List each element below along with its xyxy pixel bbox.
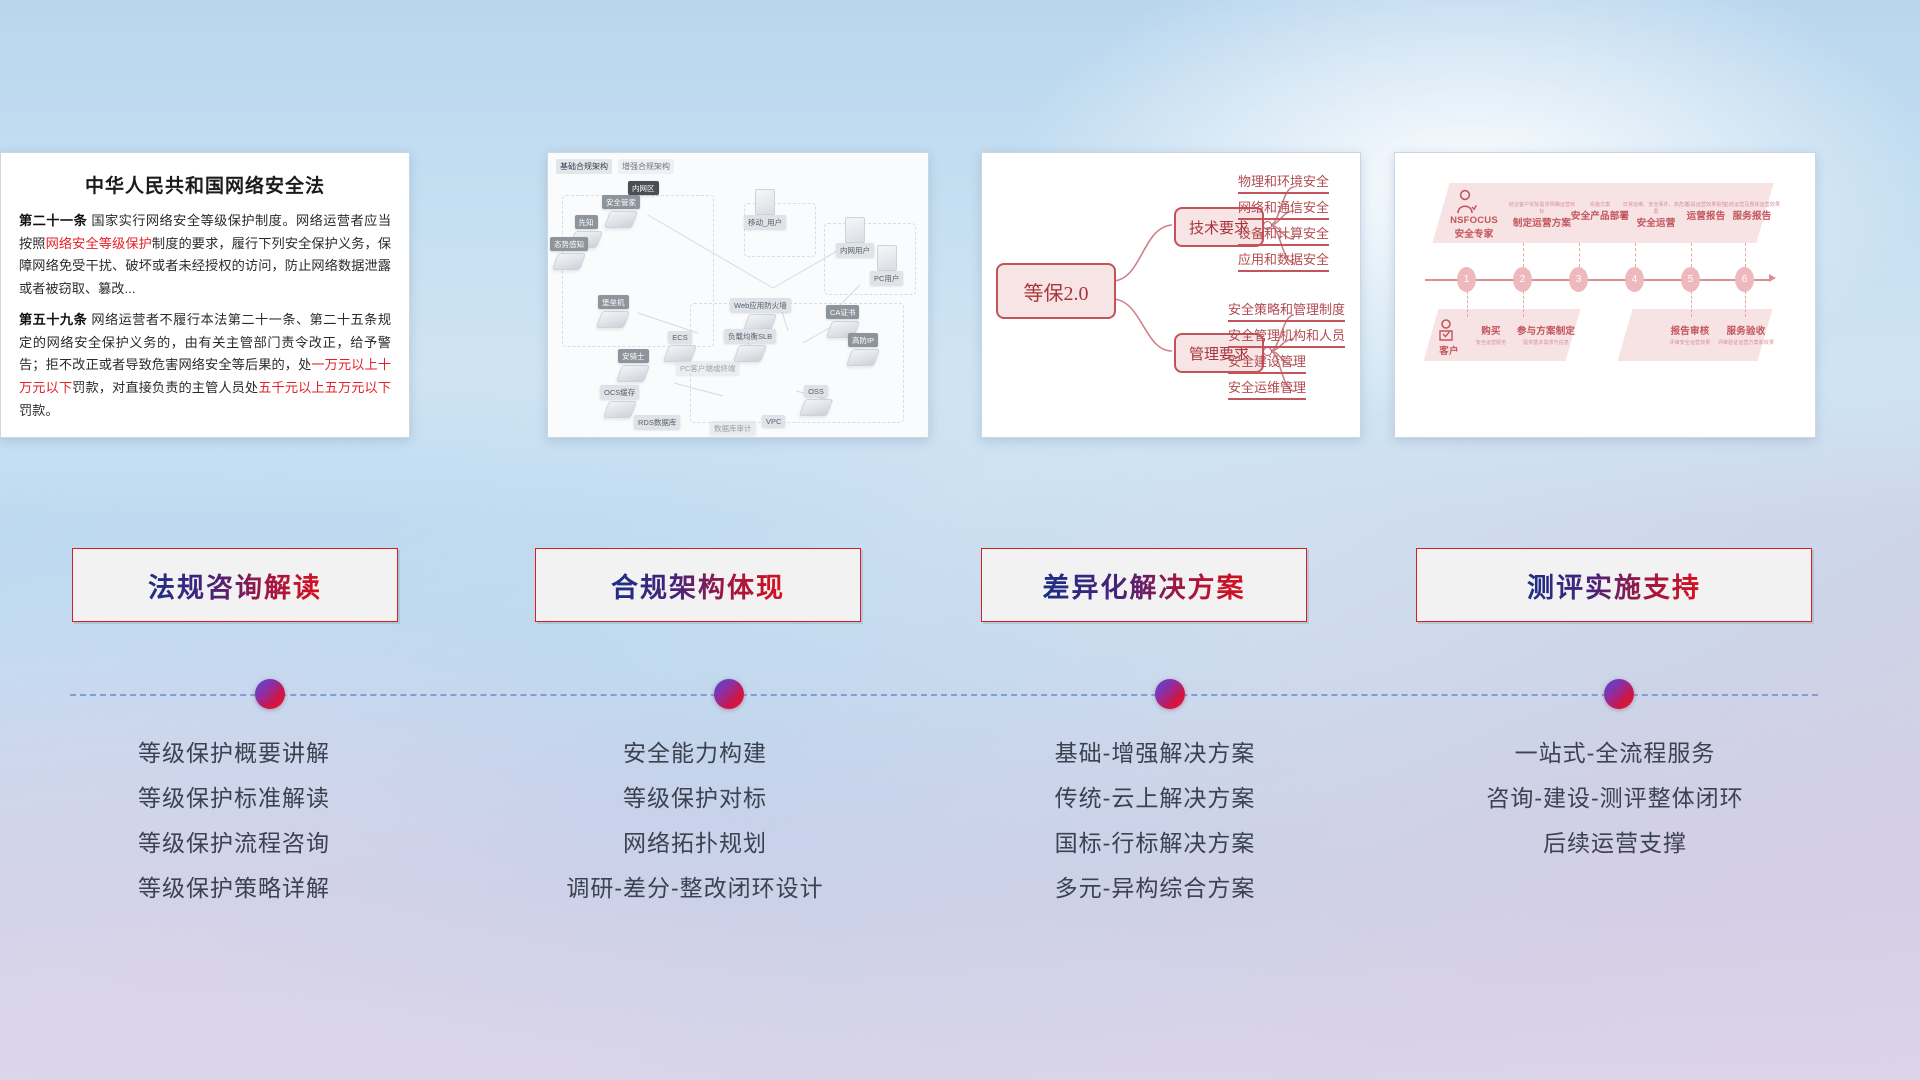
feature-list-1: 等级保护概要讲解 等级保护标准解读 等级保护流程咨询 等级保护策略详解 <box>52 742 416 922</box>
timeline-dot-2[interactable] <box>714 679 744 709</box>
arch-node-vpc: VPC <box>762 415 785 427</box>
mindmap-leaf-operation[interactable]: 安全运维管理 <box>1228 377 1306 400</box>
mindmap-leaf-application[interactable]: 应用和数据安全 <box>1238 249 1329 272</box>
law-article-59: 第五十九条 网络运营者不履行本法第二十一条、第二十五条规定的网络安全保护义务的，… <box>19 309 391 423</box>
process-step-5-top: 总结运营及整体运营效果 服务报告 <box>1721 199 1783 222</box>
arch-node-oss: OSS <box>802 385 830 416</box>
list-item: 基础-增强解决方案 <box>960 742 1350 765</box>
list-item: 网络拓扑规划 <box>500 832 890 855</box>
process-connector-1-down <box>1467 291 1469 317</box>
arch-node-situational-awareness: 态势感知 <box>550 237 588 270</box>
feature-list-2: 安全能力构建 等级保护对标 网络拓扑规划 调研-差分-整改闭环设计 <box>500 742 890 922</box>
arch-node-pc-client: PC客户端或终端 <box>676 361 739 375</box>
law-article-21: 第二十一条 国家实行网络安全等级保护制度。网络运营者应当按照网络安全等级保护制度… <box>19 210 391 301</box>
arch-node-anti-ddos-ip: 高防IP <box>848 333 878 366</box>
list-item: 等级保护概要讲解 <box>52 742 416 765</box>
title-label-3: 差异化解决方案 <box>1043 566 1246 605</box>
timeline-dot-1[interactable] <box>255 679 285 709</box>
arch-node-waf: Web应用防火墙 <box>730 298 791 331</box>
arch-node-intranet-zone: 内网区 <box>628 181 659 195</box>
process-connector-5-down <box>1691 291 1693 317</box>
title-box-regulation-consulting[interactable]: 法规咨询解读 <box>72 548 398 622</box>
feature-list-4: 一站式-全流程服务 咨询-建设-测评整体闭环 后续运营支撑 <box>1400 742 1830 877</box>
list-item: 等级保护对标 <box>500 787 890 810</box>
law-article-21-label: 第二十一条 <box>19 213 87 228</box>
list-item: 一站式-全流程服务 <box>1400 742 1830 765</box>
list-item: 调研-差分-整改闭环设计 <box>500 877 890 900</box>
expert-label: NSFOCUS 安全专家 <box>1443 215 1505 240</box>
timeline-dot-3[interactable] <box>1155 679 1185 709</box>
mindmap-leaf-construction[interactable]: 安全建设管理 <box>1228 351 1306 374</box>
title-box-compliance-architecture[interactable]: 合规架构体现 <box>535 548 861 622</box>
law-article-21-highlight: 网络安全等级保护 <box>46 236 152 251</box>
process-step-marker-4[interactable]: 4 <box>1625 267 1644 292</box>
title-label-1: 法规咨询解读 <box>148 566 322 605</box>
arch-node-rds: RDS数据库 <box>634 415 680 429</box>
arch-node-security-butler: 安全管家 <box>602 195 640 228</box>
process-step-marker-5[interactable]: 5 <box>1681 267 1700 292</box>
list-item: 等级保护流程咨询 <box>52 832 416 855</box>
process-axis-arrow-icon <box>1769 274 1776 282</box>
process-bottom-step-1: 购买 安全运营服务 <box>1467 323 1515 346</box>
process-connector-2 <box>1523 243 1525 267</box>
list-item: 安全能力构建 <box>500 742 890 765</box>
architecture-diagram: 基础合规架构 增强合规架构 <box>548 153 928 437</box>
arch-node-slb: 负载均衡SLB <box>724 329 776 362</box>
mindmap-leaf-org[interactable]: 安全管理机构和人员 <box>1228 325 1345 348</box>
preview-card-process[interactable]: NSFOCUS 安全专家 结合客户实际需求明确运营目标 制定运营方案 实施方案 … <box>1394 152 1816 438</box>
list-item: 等级保护标准解读 <box>52 787 416 810</box>
list-item: 等级保护策略详解 <box>52 877 416 900</box>
architecture-canvas: 内网区 安全管家 先知 态势感知 堡垒机 安骑士 移动_用户 Web应用防火墙 <box>548 153 928 437</box>
process-connector-3 <box>1579 243 1581 267</box>
mindmap-leaf-policy[interactable]: 安全策略和管理制度 <box>1228 299 1345 322</box>
arch-node-mobile-user: 移动_用户 <box>744 187 786 229</box>
arch-node-intranet-user: 内网用户 <box>836 215 874 257</box>
title-box-evaluation-support[interactable]: 测评实施支持 <box>1416 548 1812 622</box>
arch-node-bastion-host: 堡垒机 <box>598 295 629 328</box>
preview-card-mindmap[interactable]: 等保2.0 技术要求 管理要求 物理和环境安全 网络和通信安全 设备和计算安全 … <box>981 152 1361 438</box>
law-article-59-highlight-b: 五千元以上五万元以下 <box>258 380 391 395</box>
process-step-marker-3[interactable]: 3 <box>1569 267 1588 292</box>
mindmap-leaf-device[interactable]: 设备和计算安全 <box>1238 223 1329 246</box>
list-item: 咨询-建设-测评整体闭环 <box>1400 787 1830 810</box>
law-article-59-text-c: 罚款。 <box>19 403 59 418</box>
law-article-59-text-b: 罚款，对直接负责的主管人员处 <box>72 380 258 395</box>
arch-node-pc-user: PC用户 <box>870 243 903 285</box>
process-connector-6-down <box>1745 291 1747 317</box>
timeline-dashed-line <box>70 694 1818 696</box>
law-title: 中华人民共和国网络安全法 <box>19 171 391 198</box>
process-connector-5 <box>1691 243 1693 267</box>
preview-card-architecture[interactable]: 基础合规架构 增强合规架构 <box>547 152 929 438</box>
list-item: 后续运营支撑 <box>1400 832 1830 855</box>
list-item: 多元-异构综合方案 <box>960 877 1350 900</box>
law-article-59-label: 第五十九条 <box>19 312 87 327</box>
list-item: 传统-云上解决方案 <box>960 787 1350 810</box>
process-connector-2-down <box>1523 291 1525 317</box>
process-bottom-step-4: 服务验收 评审验证运营方案和效果 <box>1713 323 1779 346</box>
arch-node-ecs: ECS <box>666 331 694 362</box>
list-item: 国标-行标解决方案 <box>960 832 1350 855</box>
mindmap-leaf-physical[interactable]: 物理和环境安全 <box>1238 171 1329 194</box>
arch-node-ocs-cache: OCS缓存 <box>600 385 639 418</box>
mindmap-diagram: 等保2.0 技术要求 管理要求 物理和环境安全 网络和通信安全 设备和计算安全 … <box>982 153 1360 437</box>
feature-list-3: 基础-增强解决方案 传统-云上解决方案 国标-行标解决方案 多元-异构综合方案 <box>960 742 1350 922</box>
arch-node-aegis: 安骑士 <box>618 349 649 382</box>
process-timeline-diagram: NSFOCUS 安全专家 结合客户实际需求明确运营目标 制定运营方案 实施方案 … <box>1395 153 1815 437</box>
process-step-marker-6[interactable]: 6 <box>1735 267 1754 292</box>
timeline-dot-4[interactable] <box>1604 679 1634 709</box>
mindmap-leaf-network[interactable]: 网络和通信安全 <box>1238 197 1329 220</box>
law-document: 中华人民共和国网络安全法 第二十一条 国家实行网络安全等级保护制度。网络运营者应… <box>1 153 409 437</box>
process-step-marker-1[interactable]: 1 <box>1457 267 1476 292</box>
process-axis <box>1425 279 1771 281</box>
title-label-2: 合规架构体现 <box>611 566 785 605</box>
title-box-differentiated-solution[interactable]: 差异化解决方案 <box>981 548 1307 622</box>
arch-node-db-audit: 数据库审计 <box>710 421 756 435</box>
mindmap-root[interactable]: 等保2.0 <box>996 263 1116 319</box>
process-bottom-step-2: 参与方案制定 提供基本需求与信息 <box>1513 323 1579 346</box>
customer-label: 客户 <box>1433 343 1465 357</box>
process-connector-6 <box>1745 243 1747 267</box>
process-step-marker-2[interactable]: 2 <box>1513 267 1532 292</box>
process-connector-4 <box>1635 243 1637 267</box>
title-label-4: 测评实施支持 <box>1527 566 1701 605</box>
preview-card-law[interactable]: 中华人民共和国网络安全法 第二十一条 国家实行网络安全等级保护制度。网络运营者应… <box>0 152 410 438</box>
